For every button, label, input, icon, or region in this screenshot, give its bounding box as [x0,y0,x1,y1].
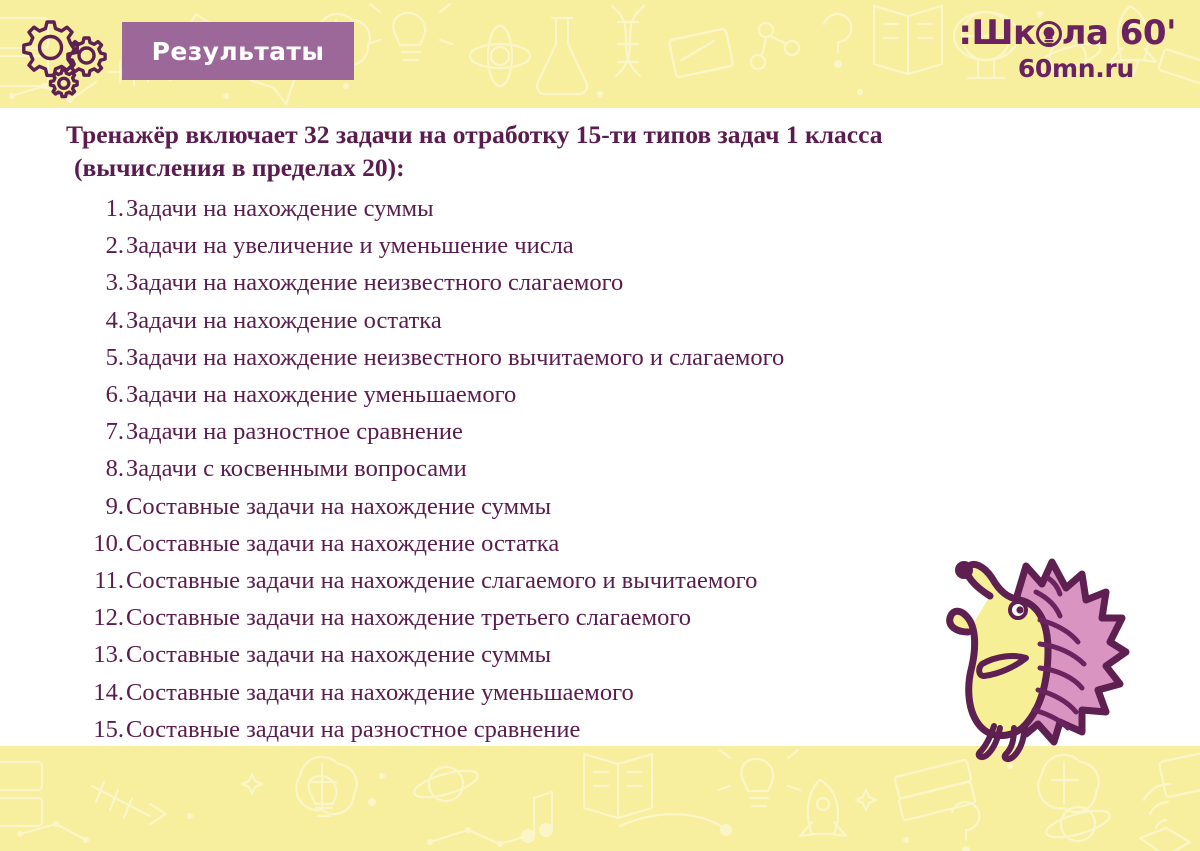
doodle-bulb-icon [718,750,800,806]
doodle-question-icon [952,802,979,851]
list-item-number: 2. [0,227,126,264]
doodle-stars [187,763,1013,843]
list-item-number: 4. [0,302,126,339]
logo-site-url: 60mn.ru [926,54,1176,84]
list-item-number: 8. [0,450,126,487]
gear-medium-icon [68,38,105,75]
site-logo[interactable]: :Шкла 60' 60mn.ru [926,14,1176,98]
list-item-label: Задачи на нахождение уменьшаемого [126,376,516,413]
doodle-question-icon [824,14,851,68]
doodle-molecule-icon [751,23,799,69]
doodle-book-open-icon [584,754,652,818]
list-item-number: 9. [0,488,126,525]
results-title-banner: Результаты [122,22,354,80]
doodle-brain-icon [1038,755,1098,812]
logo-wordmark: :Шкла 60' [926,14,1176,52]
list-item-label: Составные задачи на нахождение суммы [126,488,551,525]
doodle-rocket-icon [800,780,846,836]
logo-name-part2: ла 60' [1062,13,1176,53]
list-item-number: 1. [0,190,126,227]
list-item-label: Составные задачи на нахождение суммы [126,636,551,673]
list-item: 7. Задачи на разностное сравнение [0,413,1200,450]
logo-colon: : [958,13,971,53]
slide: Результаты :Шкла 60' 60mn.ru Тренажёр вк… [0,0,1200,851]
list-item-label: Составные задачи на нахождение уменьшаем… [126,674,634,711]
heading-line-2: (вычисления в пределах 20): [66,151,1080,184]
list-item-number: 3. [0,264,126,301]
list-item-label: Задачи на нахождение суммы [126,190,434,227]
list-item-number: 10. [0,525,126,562]
doodle-book-stack-icon [894,759,975,820]
doodle-dna-icon [612,6,644,76]
heading-line-1: Тренажёр включает 32 задачи на отработку… [66,120,882,149]
list-item: 2. Задачи на увеличение и уменьшение чис… [0,227,1200,264]
list-item: 8. Задачи с косвенными вопросами [0,450,1200,487]
doodle-card-icon [1159,751,1200,798]
list-item-label: Задачи на нахождение неизвестного вычита… [126,339,784,376]
gear-small-icon [51,70,78,97]
list-item-number: 6. [0,376,126,413]
doodle-constellation-icon [427,827,534,847]
list-item-label: Задачи с косвенными вопросами [126,450,467,487]
list-item-label: Задачи на разностное сравнение [126,413,463,450]
list-item-label: Задачи на увеличение и уменьшение числа [126,227,574,264]
gear-large-icon [24,22,77,75]
list-item: 5. Задачи на нахождение неизвестного выч… [0,339,1200,376]
list-item-label: Составные задачи на нахождение слагаемог… [126,562,757,599]
list-item-label: Составные задачи на разностное сравнение [126,711,580,748]
doodle-constellation-icon [17,821,89,843]
doodle-card-icon [669,28,734,77]
list-item: 4. Задачи на нахождение остатка [0,302,1200,339]
gears-icon [14,14,118,100]
list-item-label: Составные задачи на нахождение третьего … [126,599,691,636]
list-item-number: 7. [0,413,126,450]
list-item-label: Задачи на нахождение остатка [126,302,442,339]
hedgehog-mascot [930,548,1130,763]
list-item: 9. Составные задачи на нахождение суммы [0,488,1200,525]
list-item-number: 15. [0,711,126,748]
doodle-fishbone-icon [92,782,166,824]
list-item-number: 13. [0,636,126,673]
list-item: 6. Задачи на нахождение уменьшаемого [0,376,1200,413]
logo-name-part1: Шк [972,13,1036,53]
list-item-number: 14. [0,674,126,711]
doodle-atom-icon [470,26,530,86]
doodle-shooting-star-icon [620,814,732,836]
list-item-label: Задачи на нахождение неизвестного слагае… [126,264,623,301]
doodle-bulb-icon [368,4,452,60]
list-item-number: 12. [0,599,126,636]
lightbulb-in-letter-o-icon [1035,19,1063,47]
list-item: 3. Задачи на нахождение неизвестного сла… [0,264,1200,301]
list-item: 1. Задачи на нахождение суммы [0,190,1200,227]
doodle-saturn-icon [1044,805,1113,842]
banner-title-text: Результаты [152,37,325,66]
doodle-brain-icon [296,757,356,814]
page-heading: Тренажёр включает 32 задачи на отработку… [0,118,1200,184]
doodle-gem-icon [1140,828,1190,851]
list-item-label: Составные задачи на нахождение остатка [126,525,559,562]
doodle-signal-icon [1144,784,1170,828]
doodle-notebook-icon [0,762,42,826]
list-item-number: 5. [0,339,126,376]
doodle-flask-icon [537,18,587,94]
doodle-saturn-icon [412,765,481,802]
list-item-number: 11. [0,562,126,599]
